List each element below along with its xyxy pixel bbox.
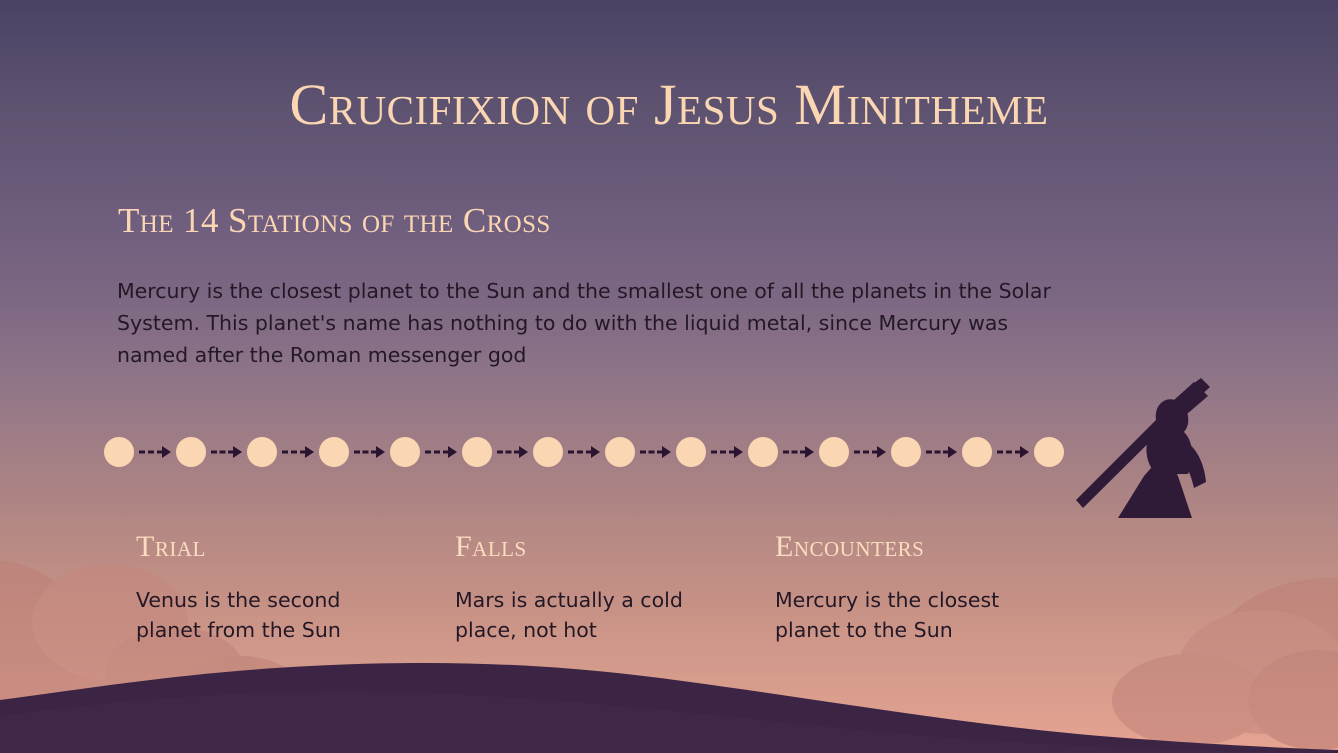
column-trial: Trial Venus is the second planet from th… xyxy=(136,532,456,645)
timeline-station-dot xyxy=(819,437,849,467)
timeline-arrow-icon xyxy=(568,446,600,459)
body-paragraph: Mercury is the closest planet to the Sun… xyxy=(117,276,1057,371)
timeline-station-dot xyxy=(748,437,778,467)
timeline-station-dot xyxy=(891,437,921,467)
timeline-arrow-icon xyxy=(783,446,815,459)
foreground-hill-highlight xyxy=(0,691,1338,753)
column-falls: Falls Mars is actually a cold place, not… xyxy=(455,532,775,645)
column-title: Trial xyxy=(136,532,456,562)
page-title: Crucifixion of Jesus Minitheme xyxy=(0,76,1338,134)
timeline-arrow-icon xyxy=(926,446,958,459)
column-body: Mercury is the closest planet to the Sun xyxy=(775,586,1035,645)
timeline-arrow-icon xyxy=(425,446,457,459)
timeline-arrow-icon xyxy=(854,446,886,459)
timeline-arrow-icon xyxy=(139,446,171,459)
foreground-hill xyxy=(0,663,1338,753)
timeline-arrow-icon xyxy=(282,446,314,459)
section-heading: The 14 Stations of the Cross xyxy=(118,203,551,238)
column-title: Encounters xyxy=(775,532,1095,562)
column-title: Falls xyxy=(455,532,775,562)
timeline-station-dot xyxy=(462,437,492,467)
timeline-station-dot xyxy=(104,437,134,467)
timeline-station-dot xyxy=(605,437,635,467)
stations-timeline xyxy=(104,432,1064,472)
timeline-station-dot xyxy=(1034,437,1064,467)
jesus-carrying-cross-icon xyxy=(1070,378,1240,518)
timeline-arrow-icon xyxy=(497,446,529,459)
timeline-station-dot xyxy=(176,437,206,467)
column-body: Venus is the second planet from the Sun xyxy=(136,586,386,645)
timeline-arrow-icon xyxy=(354,446,386,459)
timeline-arrow-icon xyxy=(711,446,743,459)
timeline-arrow-icon xyxy=(997,446,1029,459)
right-cloud-shapes xyxy=(1112,578,1338,750)
column-body: Mars is actually a cold place, not hot xyxy=(455,586,705,645)
column-encounters: Encounters Mercury is the closest planet… xyxy=(775,532,1095,645)
timeline-station-dot xyxy=(676,437,706,467)
columns-container: Trial Venus is the second planet from th… xyxy=(136,532,1096,645)
timeline-station-dot xyxy=(390,437,420,467)
timeline-arrow-icon xyxy=(211,446,243,459)
timeline-arrow-icon xyxy=(640,446,672,459)
timeline-station-dot xyxy=(962,437,992,467)
timeline-station-dot xyxy=(319,437,349,467)
timeline-station-dot xyxy=(247,437,277,467)
timeline-row xyxy=(104,432,1064,472)
timeline-station-dot xyxy=(533,437,563,467)
slide-canvas: Crucifixion of Jesus Minitheme The 14 St… xyxy=(0,0,1338,753)
